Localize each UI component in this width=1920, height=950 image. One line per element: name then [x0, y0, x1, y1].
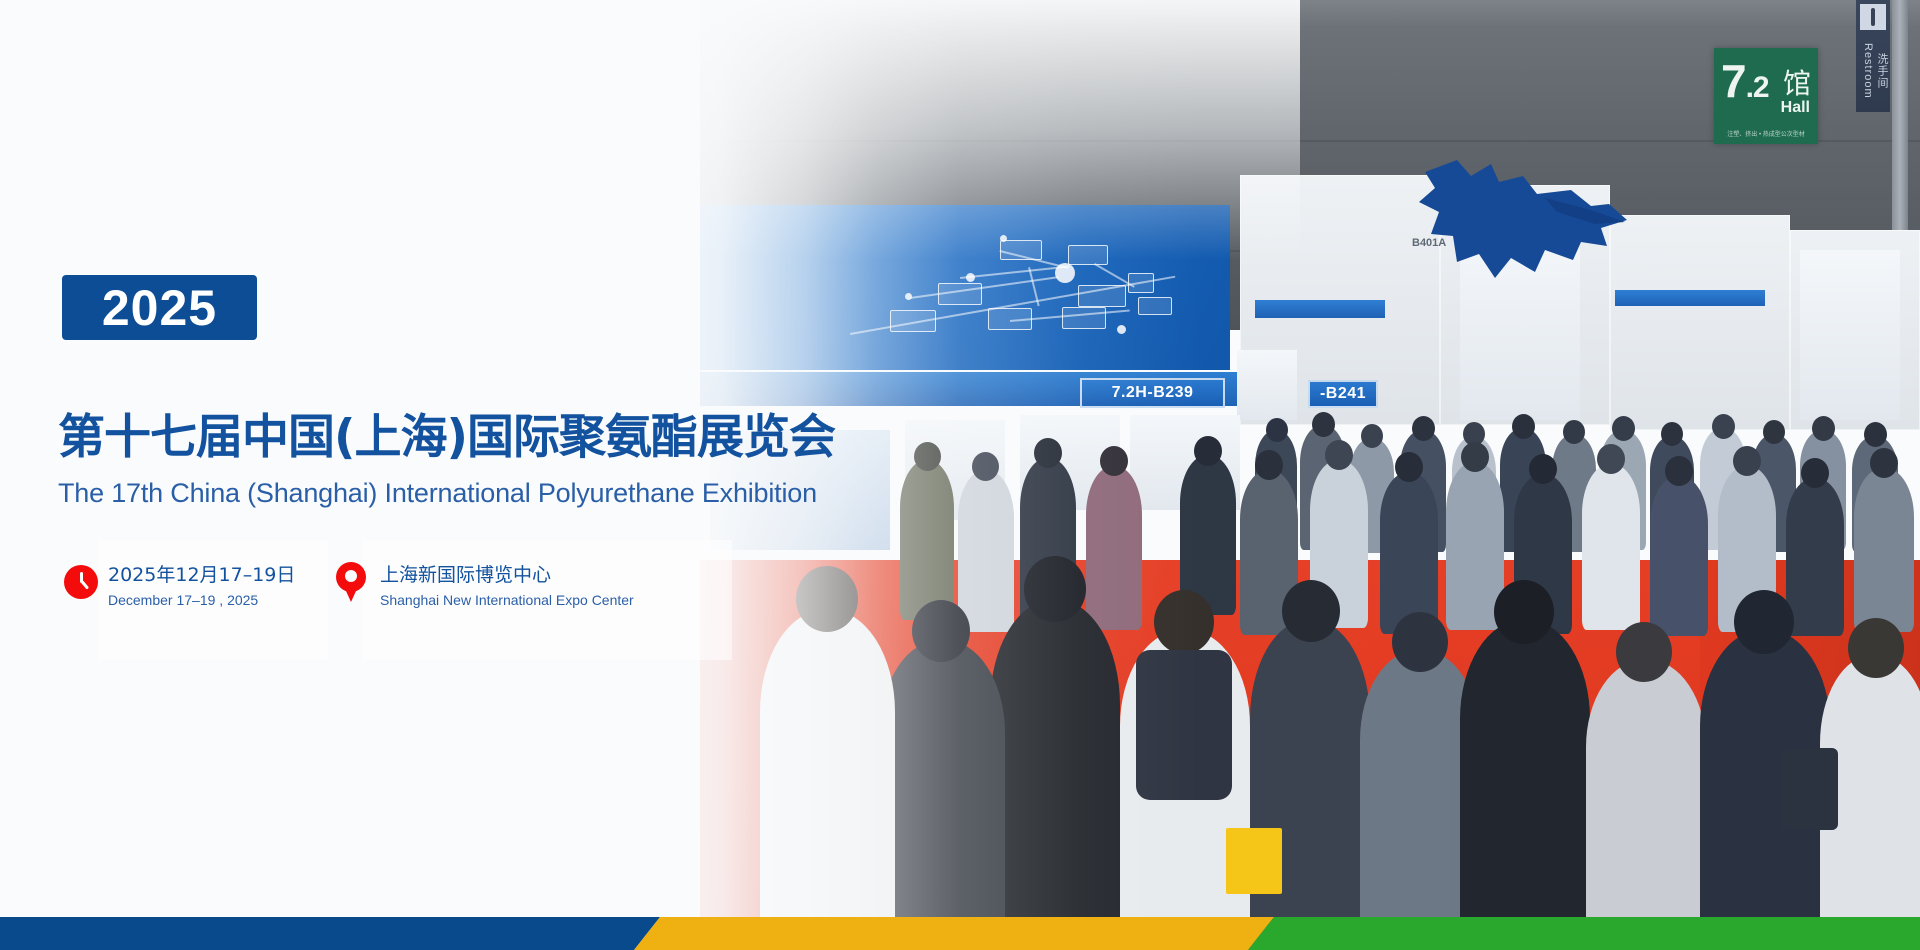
booth-number-sign: -B241 [1308, 380, 1378, 408]
hall-sign-number: 7.2 [1721, 58, 1769, 104]
visitor-head [1494, 580, 1554, 644]
visitor-foreground [990, 600, 1120, 950]
visitor-head [1512, 414, 1535, 439]
network-node [1062, 307, 1106, 329]
network-node [1138, 297, 1172, 315]
visitor [1786, 478, 1844, 636]
bar-segment-yellow [634, 917, 1274, 950]
visitor-head [1312, 412, 1335, 437]
visitor [900, 460, 954, 620]
visitor-head [1763, 420, 1785, 444]
visitor-foreground [1586, 660, 1706, 950]
visitor-head [1154, 590, 1214, 654]
year-badge: 2025 [62, 275, 257, 340]
visitor-head [1665, 456, 1693, 486]
visitor-head [1563, 420, 1585, 444]
visitor-head [914, 442, 941, 471]
visitor-head [1024, 556, 1086, 622]
network-dot [1000, 235, 1007, 242]
booth-structure [1610, 215, 1790, 430]
year-badge-label: 2025 [102, 283, 217, 333]
banner-text-content: 2025 第十七届中国(上海)国际聚氨酯展览会 The 17th China (… [0, 0, 900, 950]
venue-info-panel: 上海新国际博览中心 Shanghai New International Exp… [362, 540, 732, 660]
visitor-head [1325, 440, 1353, 470]
visitor-head [1392, 612, 1448, 672]
bar-segment-green [1248, 917, 1920, 950]
visitor [1380, 472, 1438, 634]
booth-panel [1800, 250, 1900, 420]
restroom-sign: 洗手间 Restroom [1856, 0, 1890, 112]
network-node [1068, 245, 1108, 265]
hall-sign-sub: 注塑、挤出 • 热成型公次型材 [1720, 129, 1812, 138]
hall-number-sign: 7.2 馆 Hall 注塑、挤出 • 热成型公次型材 [1714, 48, 1818, 144]
visitor-head [1597, 444, 1625, 474]
venue-cn: 上海新国际博览中心 [380, 560, 551, 587]
visitor-head [1734, 590, 1794, 654]
visitor-head [1612, 416, 1635, 441]
date-cn: 2025年12月17–19日 [108, 560, 295, 587]
visitor-head [1034, 438, 1062, 468]
exhibition-banner: 7.2 馆 Hall 注塑、挤出 • 热成型公次型材 洗手间 Restroom … [0, 0, 1920, 950]
exhibitor-poster [1237, 350, 1297, 420]
visitor-head [1266, 418, 1288, 442]
visitor [1582, 464, 1640, 630]
visitor-head [1412, 416, 1435, 441]
visitor-head [1870, 448, 1898, 478]
visitor [1854, 468, 1914, 632]
visitor-head [1812, 416, 1835, 441]
venue-en: Shanghai New International Expo Center [380, 592, 634, 608]
visitor-head [1194, 436, 1222, 466]
visitor-head [1395, 452, 1423, 482]
visitor-head [1100, 446, 1128, 476]
visitor [958, 470, 1014, 632]
map-pin-icon [336, 562, 366, 602]
visitor-head [1864, 422, 1887, 447]
visitor-head [1255, 450, 1283, 480]
backpack [1136, 650, 1232, 800]
restroom-icon [1860, 4, 1886, 30]
visitor-head [972, 452, 999, 481]
visitor-head [912, 600, 970, 662]
visitor-head [1461, 442, 1489, 472]
booth-header-strip [1255, 300, 1385, 318]
shopping-bag [1226, 828, 1282, 894]
visitor-head [1712, 414, 1735, 439]
visitor-head [1361, 424, 1383, 448]
network-dot [1117, 325, 1126, 334]
visitor-head [1661, 422, 1683, 446]
date-info-panel: 2025年12月17–19日 December 17–19 , 2025 [98, 540, 328, 660]
bar-segment-blue [0, 917, 660, 950]
booth-header-strip [1615, 290, 1765, 306]
clock-icon [64, 565, 98, 599]
visitor-foreground [1460, 620, 1590, 950]
dragon-sculpture-icon [1395, 150, 1635, 285]
hall-sign-en: Hall [1781, 100, 1810, 116]
visitor-foreground [1250, 620, 1370, 950]
network-node [938, 283, 982, 305]
exhibition-title-en: The 17th China (Shanghai) International … [58, 478, 817, 509]
visitor-head [1733, 446, 1761, 476]
date-en: December 17–19 , 2025 [108, 592, 258, 608]
booth-number-sign: 7.2H-B239 [1080, 378, 1225, 408]
visitor-head [1848, 618, 1904, 678]
visitor [1650, 476, 1708, 636]
suitcase [1780, 748, 1838, 830]
visitor-head [1529, 454, 1557, 484]
hall-sign-cn: 馆 [1783, 70, 1811, 98]
bottom-color-bar [0, 917, 1920, 950]
visitor-head [1282, 580, 1340, 642]
visitor [1086, 466, 1142, 630]
restroom-sign-label: 洗手间 Restroom [1856, 36, 1890, 106]
exhibition-title-cn: 第十七届中国(上海)国际聚氨酯展览会 [58, 398, 835, 467]
visitor-head [1616, 622, 1672, 682]
visitor-head [1801, 458, 1829, 488]
